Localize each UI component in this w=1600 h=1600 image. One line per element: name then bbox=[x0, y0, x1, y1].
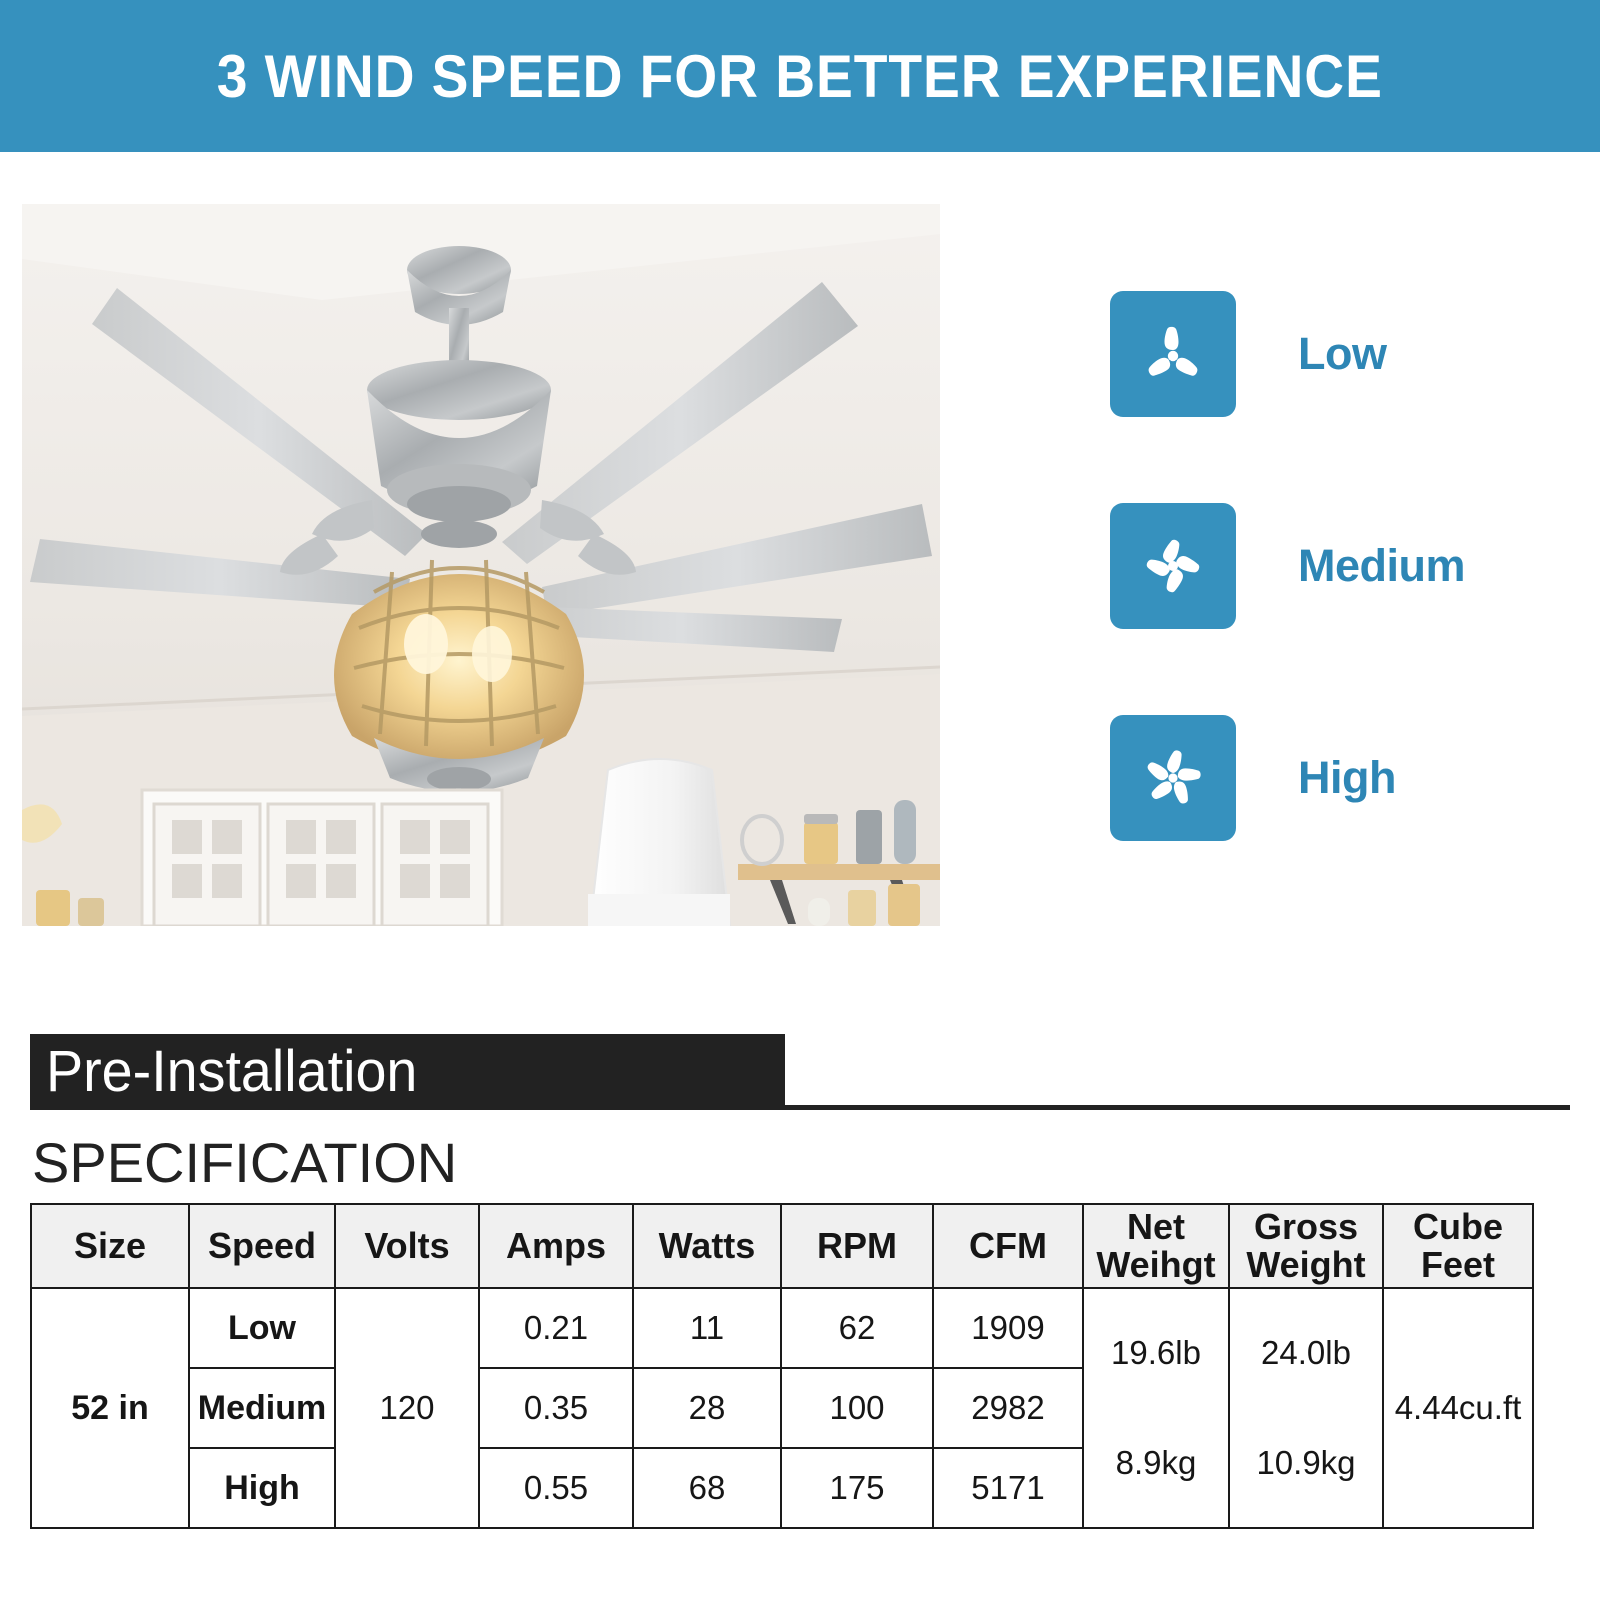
net-weight-lb: 19.6lb bbox=[1084, 1316, 1228, 1390]
cell-rpm-medium: 100 bbox=[781, 1368, 933, 1448]
fan-3-blade-icon bbox=[1110, 291, 1236, 417]
cell-amps-medium: 0.35 bbox=[479, 1368, 633, 1448]
net-weight-kg: 8.9kg bbox=[1084, 1426, 1228, 1500]
cell-amps-high: 0.55 bbox=[479, 1448, 633, 1528]
cell-watts-medium: 28 bbox=[633, 1368, 781, 1448]
column-header-cfm: CFM bbox=[933, 1204, 1083, 1288]
column-header-rpm: RPM bbox=[781, 1204, 933, 1288]
cell-amps-low: 0.21 bbox=[479, 1288, 633, 1368]
product-photo bbox=[22, 204, 940, 926]
cell-net-weight: 19.6lb 8.9kg bbox=[1083, 1288, 1229, 1528]
pre-installation-section: Pre-Installation bbox=[0, 1034, 1600, 1114]
cell-speed-medium: Medium bbox=[189, 1368, 335, 1448]
cell-gross-weight: 24.0lb 10.9kg bbox=[1229, 1288, 1383, 1528]
table-row: 52 in Low 120 0.21 11 62 1909 19.6lb 8.9… bbox=[31, 1288, 1533, 1368]
gross-weight-spacer bbox=[1230, 1390, 1382, 1426]
column-header-cube-feet: Cube Feet bbox=[1383, 1204, 1533, 1288]
ceiling-fan-photo-illustration bbox=[22, 204, 940, 926]
column-header-watts: Watts bbox=[633, 1204, 781, 1288]
speed-label-high: High bbox=[1298, 752, 1396, 804]
specification-table: Size Speed Volts Amps Watts RPM CFM Net … bbox=[30, 1203, 1534, 1529]
speed-label-medium: Medium bbox=[1298, 540, 1465, 592]
banner-title: 3 WIND SPEED FOR BETTER EXPERIENCE bbox=[217, 42, 1383, 111]
column-header-size: Size bbox=[31, 1204, 189, 1288]
net-weight-spacer bbox=[1084, 1390, 1228, 1426]
cell-cube-feet: 4.44cu.ft bbox=[1383, 1288, 1533, 1528]
column-header-speed: Speed bbox=[189, 1204, 335, 1288]
table-header-row: Size Speed Volts Amps Watts RPM CFM Net … bbox=[31, 1204, 1533, 1288]
cell-cfm-high: 5171 bbox=[933, 1448, 1083, 1528]
specification-heading: SPECIFICATION bbox=[32, 1130, 457, 1195]
column-header-gross-weight: Gross Weight bbox=[1229, 1204, 1383, 1288]
cell-rpm-low: 62 bbox=[781, 1288, 933, 1368]
column-header-amps: Amps bbox=[479, 1204, 633, 1288]
wind-speed-list: Low Medium bbox=[1110, 290, 1570, 926]
header-banner: 3 WIND SPEED FOR BETTER EXPERIENCE bbox=[0, 0, 1600, 152]
speed-item-medium[interactable]: Medium bbox=[1110, 502, 1570, 630]
cell-watts-low: 11 bbox=[633, 1288, 781, 1368]
cell-watts-high: 68 bbox=[633, 1448, 781, 1528]
fan-4-blade-icon bbox=[1110, 503, 1236, 629]
cell-size: 52 in bbox=[31, 1288, 189, 1528]
gross-weight-kg: 10.9kg bbox=[1230, 1426, 1382, 1500]
speed-item-high[interactable]: High bbox=[1110, 714, 1570, 842]
column-header-volts: Volts bbox=[335, 1204, 479, 1288]
speed-label-low: Low bbox=[1298, 328, 1386, 380]
pre-installation-label: Pre-Installation bbox=[46, 1038, 417, 1106]
cell-volts: 120 bbox=[335, 1288, 479, 1528]
cell-speed-low: Low bbox=[189, 1288, 335, 1368]
gross-weight-lb: 24.0lb bbox=[1230, 1316, 1382, 1390]
cell-cfm-medium: 2982 bbox=[933, 1368, 1083, 1448]
cell-rpm-high: 175 bbox=[781, 1448, 933, 1528]
fan-5-blade-icon bbox=[1110, 715, 1236, 841]
pre-installation-rule bbox=[785, 1105, 1570, 1110]
column-header-net-weight: Net Weihgt bbox=[1083, 1204, 1229, 1288]
cell-cfm-low: 1909 bbox=[933, 1288, 1083, 1368]
cell-speed-high: High bbox=[189, 1448, 335, 1528]
speed-item-low[interactable]: Low bbox=[1110, 290, 1570, 418]
